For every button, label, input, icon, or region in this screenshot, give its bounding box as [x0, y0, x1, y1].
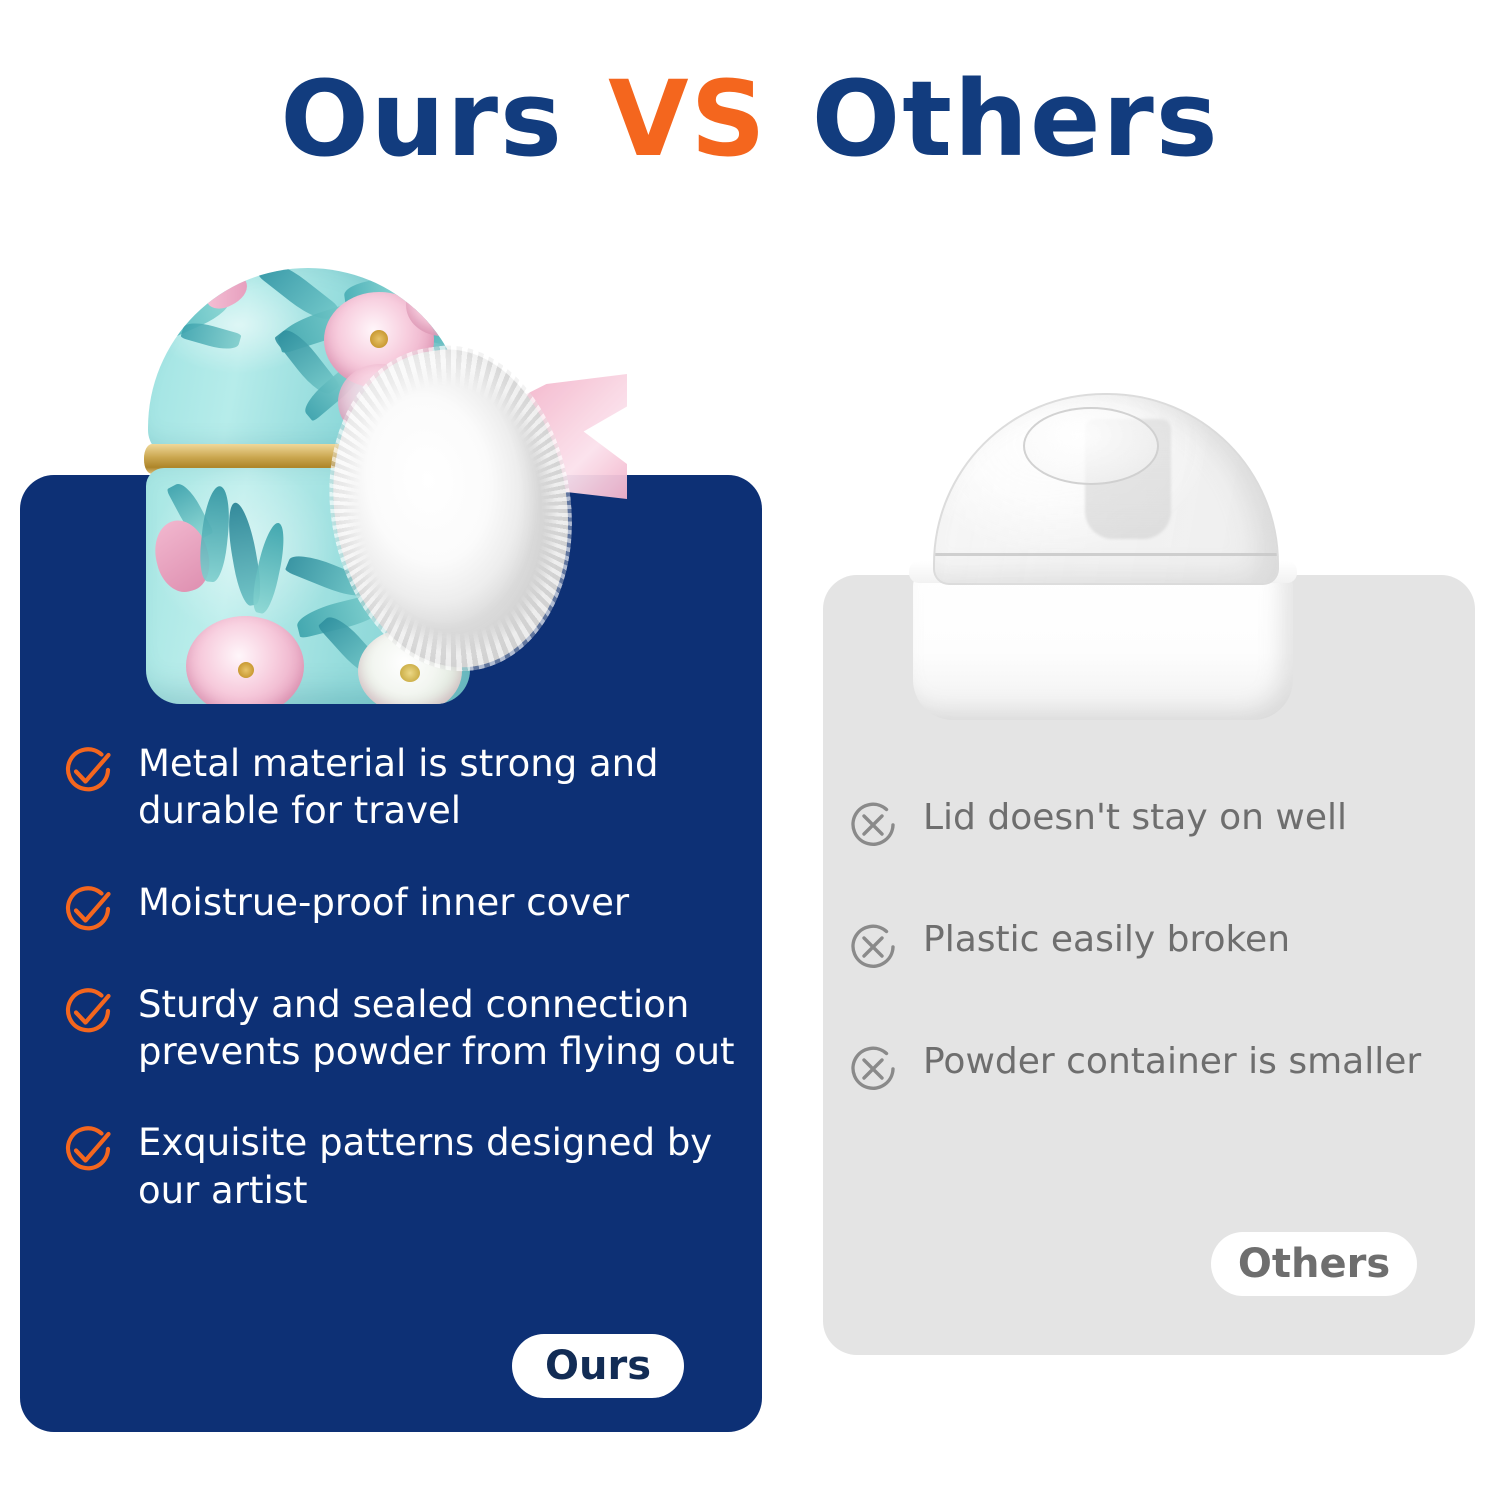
page-title: Ours VS Others [0, 62, 1500, 176]
list-item-label: Exquisite patterns designed by our artis… [138, 1119, 750, 1214]
dome-knob [1023, 407, 1159, 485]
check-circle-icon [60, 742, 116, 798]
title-others: Others [812, 58, 1220, 180]
list-item-label: Sturdy and sealed connection prevents po… [138, 981, 750, 1076]
list-item: Powder container is smaller [845, 1039, 1460, 1097]
check-circle-icon [60, 983, 116, 1039]
list-item-label: Moistrue-proof inner cover [138, 879, 629, 926]
list-item-label: Plastic easily broken [923, 917, 1290, 963]
list-item-label: Powder container is smaller [923, 1039, 1421, 1085]
others-feature-list: Lid doesn't stay on well Plastic easily … [845, 795, 1460, 1161]
ours-feature-list: Metal material is strong and durable for… [60, 740, 750, 1258]
ours-badge-label: Ours [545, 1343, 651, 1389]
title-ours: Ours [280, 58, 564, 180]
list-item-label: Lid doesn't stay on well [923, 795, 1347, 841]
list-item-label: Metal material is strong and durable for… [138, 740, 750, 835]
list-item: Metal material is strong and durable for… [60, 740, 750, 835]
others-product-image [885, 385, 1325, 730]
list-item: Sturdy and sealed connection prevents po… [60, 981, 750, 1076]
list-item: Lid doesn't stay on well [845, 795, 1460, 853]
dome-seam [935, 553, 1277, 556]
clear-dome-lid [933, 393, 1279, 585]
x-circle-icon [845, 797, 901, 853]
others-badge-label: Others [1238, 1241, 1390, 1287]
x-circle-icon [845, 919, 901, 975]
check-circle-icon [60, 881, 116, 937]
title-vs: VS [602, 58, 773, 180]
plastic-container-base [913, 570, 1293, 720]
ours-product-image [120, 262, 740, 682]
x-circle-icon [845, 1041, 901, 1097]
check-circle-icon [60, 1121, 116, 1177]
list-item: Exquisite patterns designed by our artis… [60, 1119, 750, 1214]
ours-badge: Ours [512, 1334, 684, 1398]
list-item: Moistrue-proof inner cover [60, 879, 750, 937]
others-badge: Others [1211, 1232, 1417, 1296]
list-item: Plastic easily broken [845, 917, 1460, 975]
